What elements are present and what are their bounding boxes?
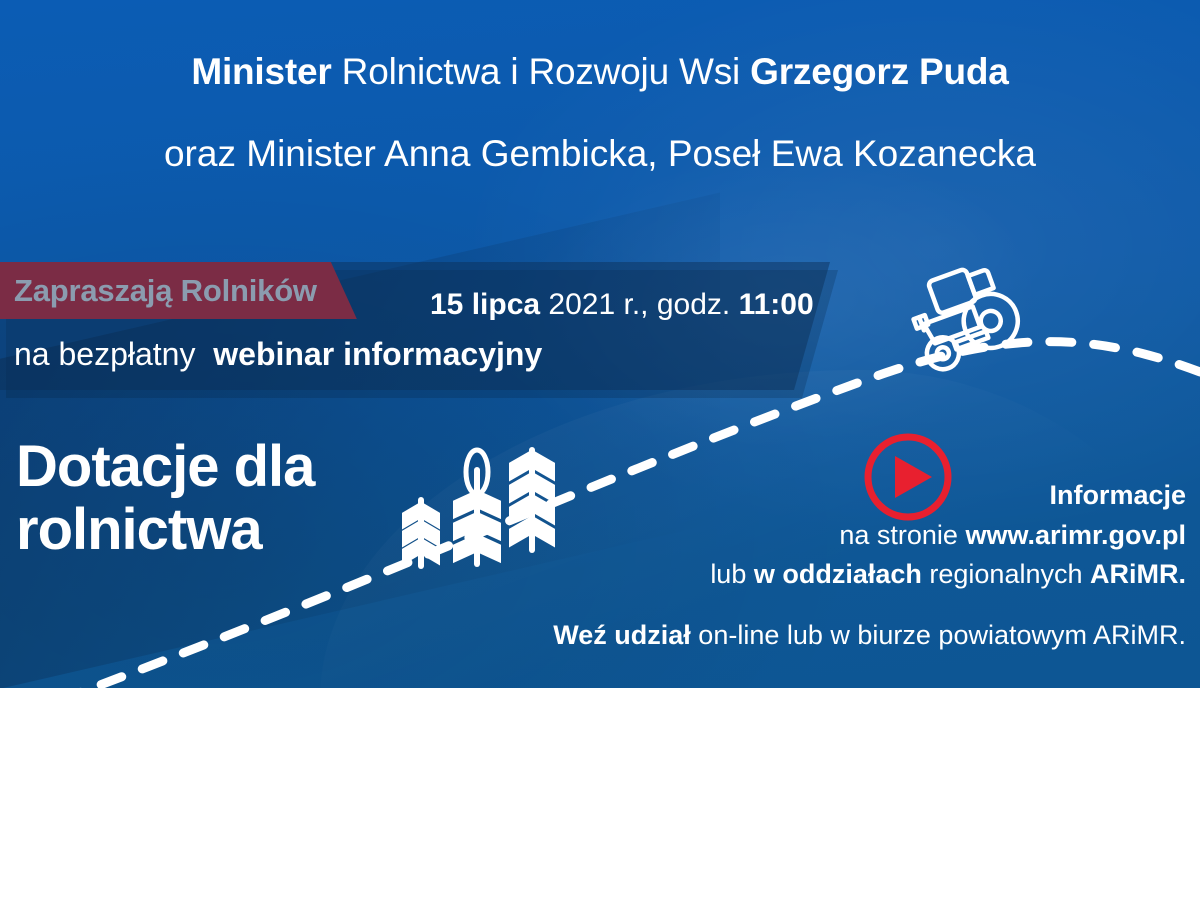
poster: Minister Rolnictwa i Rozwoju Wsi Grzegor… [0,0,1200,900]
headline-line-2: oraz Minister Anna Gembicka, Poseł Ewa K… [0,126,1200,182]
headline-1-bold-b: Grzegorz Puda [750,51,1009,92]
info-website-prefix: na stronie [839,520,965,550]
webinar-invite-light: na bezpłatny [14,336,195,372]
join-rest: on-line lub w biurze powiatowym ARiMR. [691,620,1186,650]
page-title-line-2: rolnictwa [16,499,314,562]
info-branches-line: lub w oddziałach regionalnych ARiMR. [710,555,1186,595]
info-website-line: na stronie www.arimr.gov.pl [710,516,1186,556]
join-bold: Weź udział [553,620,691,650]
info-branches-b: w oddziałach [754,559,922,589]
event-time: 11:00 [739,288,814,321]
info-block: Informacje na stronie www.arimr.gov.pl l… [710,476,1186,595]
footer: ORGANIZATORZY: PATRONAT: PARTNERZY: ARiM… [0,688,1200,900]
tractor-icon [903,257,1026,374]
info-branches-c: regionalnych [922,559,1090,589]
headline-2-bold-c: Ewa Kozanecka [771,133,1036,174]
headline-line-1: Minister Rolnictwa i Rozwoju Wsi Grzegor… [0,44,1200,100]
headline-2-regular-b: Poseł [658,133,771,174]
page-title: Dotacje dla rolnictwa [16,436,314,561]
hero-background: Minister Rolnictwa i Rozwoju Wsi Grzegor… [0,0,1200,688]
info-branches-d: ARiMR. [1090,559,1186,589]
event-date-rest: 2021 r., godz. [540,288,738,321]
headline-2-bold-a: Minister [246,133,376,174]
headline-2-bold-b: Anna Gembicka, [384,133,658,174]
join-line: Weź udział on-line lub w biurze powiatow… [553,620,1186,651]
webinar-invite-bold: webinar informacyjny [213,336,542,372]
headline-1-regular: Rolnictwa i Rozwoju Wsi [332,51,751,92]
headline-2-space [376,133,384,174]
headline-2-regular-a: oraz [164,133,246,174]
info-branches-a: lub [710,559,754,589]
event-date-day: 15 lipca [430,288,540,321]
event-date: 15 lipca 2021 r., godz. 11:00 [430,288,814,322]
info-website-url: www.arimr.gov.pl [965,520,1186,550]
page-title-line-1: Dotacje dla [16,436,314,499]
info-heading: Informacje [710,476,1186,516]
webinar-invite: na bezpłatny webinar informacyjny [14,336,542,373]
wheat-icon [404,450,553,566]
headline-1-bold-a: Minister [191,51,331,92]
